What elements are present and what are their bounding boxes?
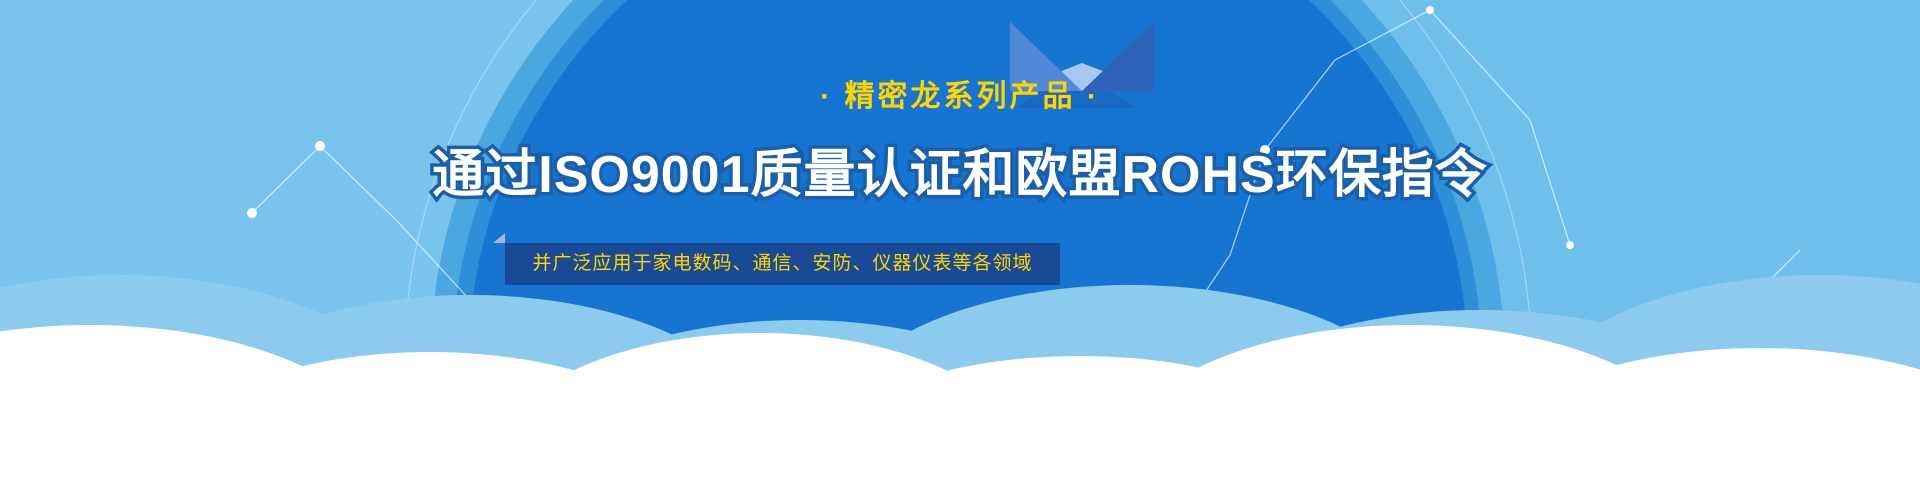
subtitle-bar-fold (493, 233, 505, 243)
banner-subtitle-bar: 并广泛应用于家电数码、通信、安防、仪器仪表等各领域 (505, 243, 1060, 285)
banner-eyebrow: · 精密龙系列产品 · (0, 78, 1920, 116)
banner-headline: 通过ISO9001质量认证和欧盟ROHS环保指令 (0, 144, 1920, 206)
promo-banner: · 精密龙系列产品 · 通过ISO9001质量认证和欧盟ROHS环保指令 并广泛… (0, 0, 1920, 480)
banner-content: · 精密龙系列产品 · 通过ISO9001质量认证和欧盟ROHS环保指令 并广泛… (0, 0, 1920, 480)
banner-subtitle: 并广泛应用于家电数码、通信、安防、仪器仪表等各领域 (532, 243, 1032, 285)
